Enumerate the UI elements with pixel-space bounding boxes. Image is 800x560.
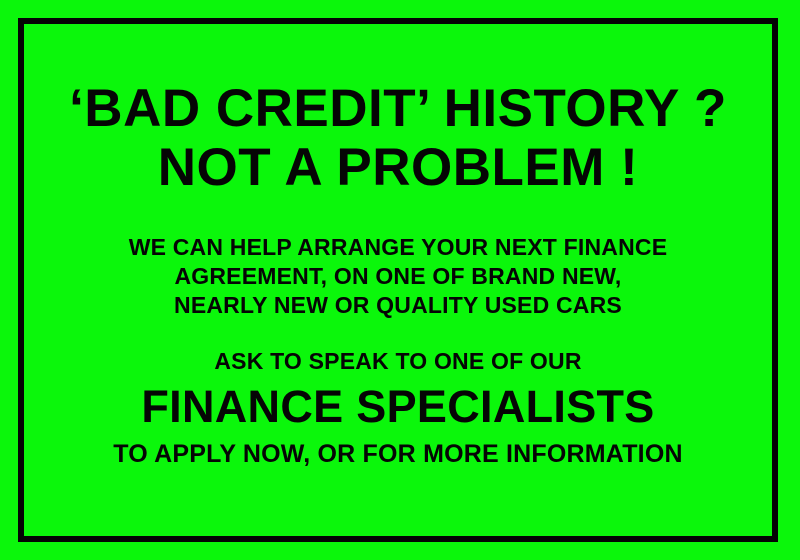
call-to-action-intro: ASK TO SPEAK TO ONE OF OUR [24,348,772,375]
body-paragraph: WE CAN HELP ARRANGE YOUR NEXT FINANCE AG… [24,233,772,320]
poster-content: ‘BAD CREDIT’ HISTORY ? NOT A PROBLEM ! W… [24,24,772,536]
body-line-1: WE CAN HELP ARRANGE YOUR NEXT FINANCE [24,233,772,262]
call-to-action-footer: TO APPLY NOW, OR FOR MORE INFORMATION [24,440,772,469]
headline-line-1: ‘BAD CREDIT’ HISTORY ? [24,82,772,135]
body-line-3: NEARLY NEW OR QUALITY USED CARS [24,291,772,320]
body-line-2: AGREEMENT, ON ONE OF BRAND NEW, [24,262,772,291]
poster-canvas: ‘BAD CREDIT’ HISTORY ? NOT A PROBLEM ! W… [0,0,800,560]
headline-line-2: NOT A PROBLEM ! [24,141,772,194]
call-to-action-emphasis: FINANCE SPECIALISTS [24,384,772,429]
